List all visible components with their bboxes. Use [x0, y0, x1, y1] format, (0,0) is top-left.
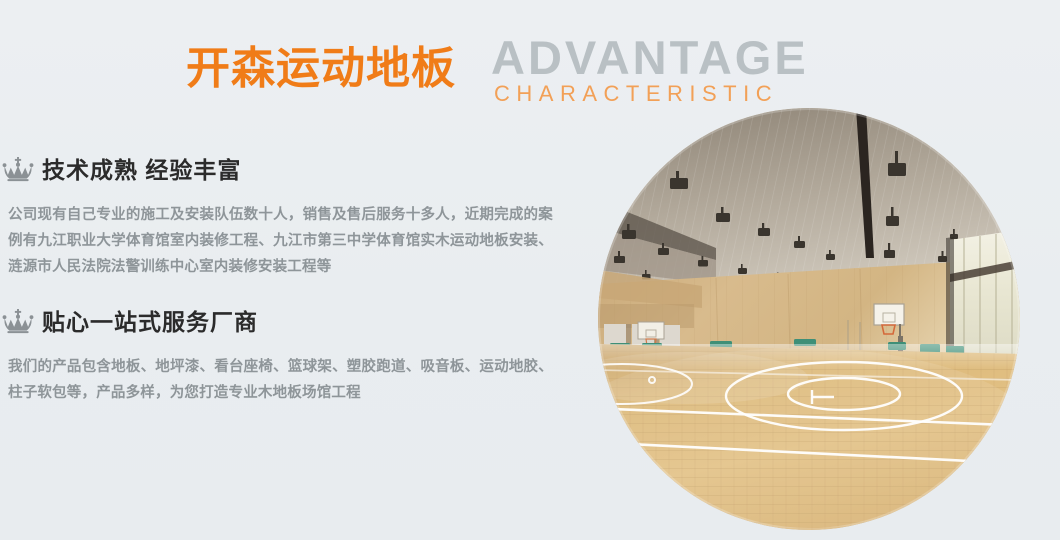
feature-list: 技术成熟 经验丰富 公司现有自己专业的施工及安装队伍数十人，销售及售后服务十多人… [0, 150, 570, 428]
basketball-gymnasium-photo [598, 108, 1020, 530]
advantage-section: ADVANTAGE CHARACTERISTIC 开森运动地板 [0, 0, 1060, 540]
feature-item: 技术成熟 经验丰富 公司现有自己专业的施工及安装队伍数十人，销售及售后服务十多人… [0, 150, 570, 280]
feature-item: 贴心一站式服务厂商 我们的产品包含地板、地坪漆、看台座椅、篮球架、塑胶跑道、吸音… [0, 302, 570, 406]
feature-body: 公司现有自己专业的施工及安装队伍数十人，销售及售后服务十多人，近期完成的案例有九… [0, 202, 553, 280]
crown-icon [2, 157, 34, 183]
page-title: 开森运动地板 [186, 43, 456, 95]
english-title: ADVANTAGE [491, 33, 809, 83]
feature-heading: 技术成熟 经验丰富 [0, 150, 570, 190]
crown-icon [2, 309, 34, 335]
english-subtitle: CHARACTERISTIC [494, 81, 778, 107]
feature-body: 我们的产品包含地板、地坪漆、看台座椅、篮球架、塑胶跑道、吸音板、运动地胶、柱子软… [0, 354, 553, 406]
feature-title: 贴心一站式服务厂商 [42, 307, 258, 337]
feature-title: 技术成熟 经验丰富 [42, 155, 241, 185]
feature-heading: 贴心一站式服务厂商 [0, 302, 570, 342]
